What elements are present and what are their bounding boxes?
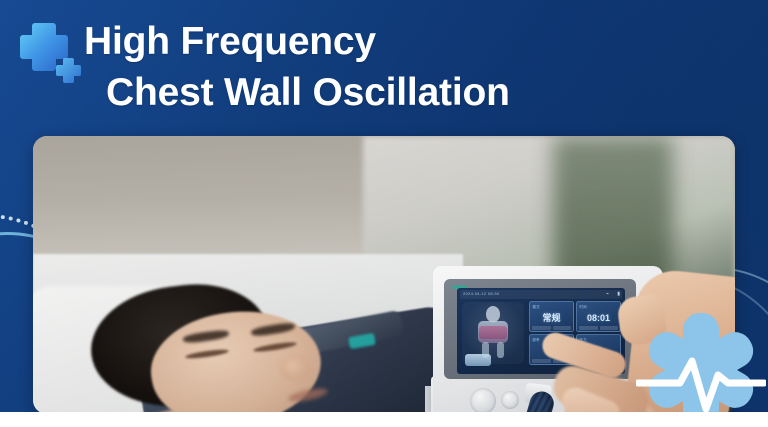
hero-photo: Anbo 2024-04-12 08:30 ⌁ ▮ 模式 常规 [33, 136, 735, 414]
table-row[interactable]: 时间 08:01 [576, 301, 621, 332]
bottom-white-strip [0, 412, 768, 427]
banner-canvas: High Frequency Chest Wall Oscillation An… [0, 0, 768, 427]
figure-leg-right [497, 342, 504, 358]
figure-vest [479, 326, 507, 339]
page-title: High Frequency Chest Wall Oscillation [84, 16, 704, 119]
screen-start-button[interactable] [465, 354, 491, 366]
room-background-green [553, 136, 673, 286]
figure-head [486, 306, 500, 322]
tile-value: 08:01 [587, 314, 610, 323]
tile-steppers[interactable] [579, 326, 618, 330]
tile-label: 时间 [580, 304, 587, 309]
device-port-left [470, 388, 496, 414]
battery-icon: ▮ [617, 291, 620, 297]
star-of-life-ecg-icon [636, 305, 766, 427]
medical-cross-logo [18, 18, 84, 84]
tile-label: 频率 [533, 337, 540, 342]
headline-line-1: High Frequency [84, 20, 376, 63]
tile-value: 常规 [542, 314, 560, 323]
device-port-mid [501, 391, 519, 409]
bluetooth-icon: ⌁ [606, 291, 609, 297]
patient-nose [280, 355, 310, 381]
tile-steppers[interactable] [532, 326, 571, 330]
screen-timestamp: 2024-04-12 08:30 [463, 291, 499, 296]
tile-label: 模式 [533, 304, 540, 309]
table-row[interactable]: 模式 常规 [529, 301, 574, 332]
headline-line-2: Chest Wall Oscillation [84, 67, 704, 118]
